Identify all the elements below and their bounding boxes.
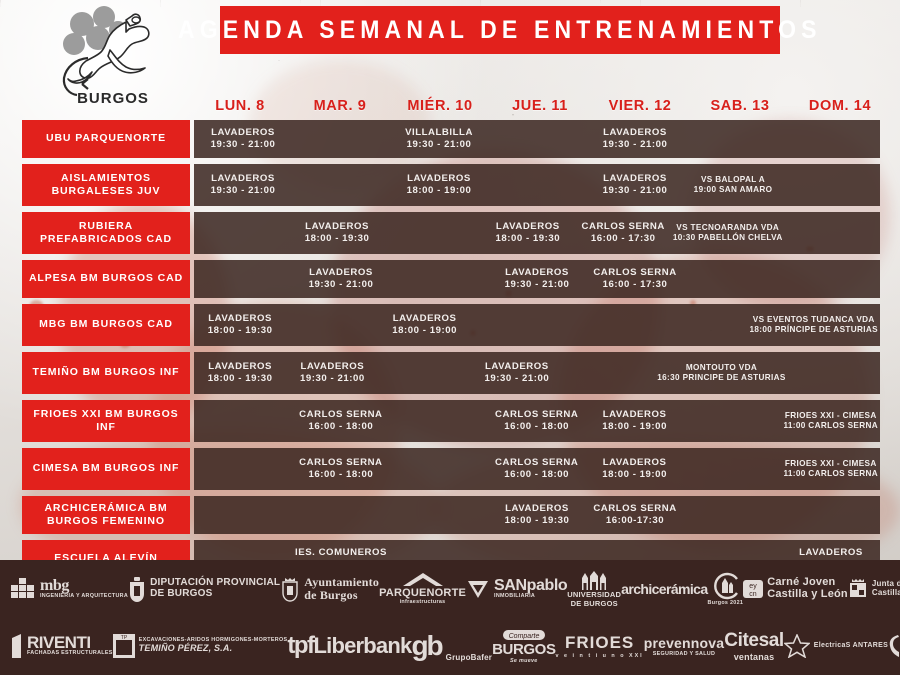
schedule-cell: CARLOS SERNA16:00-17:30	[586, 496, 684, 534]
sponsor-electricas-antares: ElectricaS ANTARES	[784, 634, 888, 658]
rubiera-bracket-icon	[888, 634, 900, 658]
gb-monogram-icon: gb	[411, 630, 441, 662]
session-place: LAVADEROS	[300, 361, 364, 373]
sponsor-sub: SEGURIDAD Y SALUD	[653, 651, 715, 657]
sponsor-row-2: RIVENTI FACHADAS ESTRUCTURALES TP EXCAVA…	[0, 617, 900, 674]
schedule-cell	[194, 496, 292, 534]
title-banner: AGENDA SEMANAL DE ENTRENAMIENTOS	[220, 6, 780, 54]
schedule-row-cells: LAVADEROS19:30 - 21:00LAVADEROS19:30 - 2…	[194, 260, 880, 298]
schedule-row: AISLAMIENTOS BURGALESES JUVLAVADEROS19:3…	[22, 164, 880, 206]
session-place: LAVADEROS	[505, 267, 569, 279]
schedule-cell: LAVADEROS19:30 - 21:00	[471, 352, 563, 394]
sponsor-row-1: mbg INGENIERIA Y ARQUITECTURA DIPUTACIÓN…	[0, 560, 900, 617]
schedule-cell	[390, 448, 488, 490]
schedule-cell: LAVADEROS19:30 - 21:00	[286, 352, 378, 394]
schedule-row: FRIOES XXI BM BURGOS INFCARLOS SERNA16:0…	[22, 400, 880, 442]
session-time: 18:00 - 19:30	[495, 233, 560, 245]
schedule-cell: LAVADEROS19:30 - 21:00	[292, 260, 390, 298]
session-place: LAVADEROS	[485, 361, 549, 373]
schedule-grid: UBU PARQUENORTELAVADEROS19:30 - 21:00VIL…	[22, 120, 880, 584]
session-place: FRIOES XXI - CIMESA	[785, 459, 877, 469]
schedule-row: RUBIERA PREFABRICADOS CADLAVADEROS18:00 …	[22, 212, 880, 254]
schedule-cell	[194, 400, 292, 442]
session-time: 16:00 - 17:30	[603, 279, 668, 291]
sponsor-sub: v e i n t i u n o XXI	[556, 653, 644, 659]
day-header-dom: DOM. 14	[790, 94, 890, 118]
sponsor-sub: Castilla y León	[767, 589, 848, 600]
schedule-cell: CARLOS SERNA16:00 - 17:30	[576, 212, 671, 254]
star-icon	[784, 634, 810, 658]
session-time: 18:00 - 19:30	[505, 515, 570, 527]
session-place: IES. COMUNEROS	[295, 547, 387, 559]
schedule-row: ARCHICERÁMICA BM BURGOS FEMENINOLAVADERO…	[22, 496, 880, 534]
schedule-cell	[788, 352, 880, 394]
schedule-row-cells: LAVADEROS18:00 - 19:30LAVADEROS18:00 - 1…	[194, 304, 880, 346]
sponsor-name: SANpablo	[494, 578, 567, 594]
schedule-row: CIMESA BM BURGOS INFCARLOS SERNA16:00 - …	[22, 448, 880, 490]
session-time: 11:00 CARLOS SERNA	[783, 469, 878, 479]
sponsor-name: DIPUTACIÓN PROVINCIAL	[150, 578, 280, 588]
sponsor-parquenorte: PARQUENORTE infraestructuras	[379, 573, 466, 605]
schedule-cell	[292, 120, 390, 158]
sponsor-frioes: FRIOES v e i n t i u n o XXI	[556, 633, 644, 659]
session-place: VS TECNOARANDA VDA	[676, 223, 779, 233]
schedule-cell: VS BALOPAL A19:00 SAN AMARO	[684, 164, 782, 206]
sponsor-sub: Castilla y León	[872, 589, 900, 597]
sponsor-mbg: mbg INGENIERIA Y ARQUITECTURA	[10, 578, 128, 600]
sponsor-name: Ayuntamiento	[304, 576, 379, 588]
schedule-cell: CARLOS SERNA16:00 - 17:30	[586, 260, 684, 298]
session-time: 18:00 - 19:00	[602, 469, 667, 481]
sponsor-junta-cyl: Junta de Castilla y León	[848, 578, 900, 600]
schedule-row: MBG BM BURGOS CADLAVADEROS18:00 - 19:30L…	[22, 304, 880, 346]
day-header-mar: MAR. 9	[290, 94, 390, 118]
session-place: LAVADEROS	[407, 173, 471, 185]
session-place: VS EVENTOS TUDANCA VDA	[753, 315, 875, 325]
schedule-row: TEMIÑO BM BURGOS INFLAVADEROS18:00 - 19:…	[22, 352, 880, 394]
session-time: 16:00 - 18:00	[504, 469, 569, 481]
sponsor-sanpablo: SANpablo INMOBILIARIA	[466, 577, 567, 601]
schedule-cell	[390, 260, 488, 298]
schedule-cell	[194, 260, 292, 298]
schedule-cell: CARLOS SERNA16:00 - 18:00	[292, 448, 390, 490]
sponsor-sub: ventanas	[734, 652, 775, 662]
day-header-jue: JUE. 11	[490, 94, 590, 118]
team-label[interactable]: UBU PARQUENORTE	[22, 120, 190, 158]
session-place: LAVADEROS	[603, 127, 667, 139]
schedule-cell	[194, 212, 289, 254]
schedule-cell: LAVADEROS19:30 - 21:00	[488, 260, 586, 298]
session-time: 19:30 - 21:00	[603, 185, 668, 197]
schedule-row-cells: CARLOS SERNA16:00 - 18:00CARLOS SERNA16:…	[194, 400, 880, 442]
svg-text:TP: TP	[120, 635, 127, 641]
schedule-row: UBU PARQUENORTELAVADEROS19:30 - 21:00VIL…	[22, 120, 880, 158]
svg-text:ey: ey	[750, 583, 758, 590]
session-place: LAVADEROS	[309, 267, 373, 279]
schedule-cell	[488, 164, 586, 206]
session-time: 16:00 - 18:00	[308, 421, 373, 433]
schedule-cell	[292, 496, 390, 534]
prevennova-icon: prevennova	[644, 635, 725, 651]
sponsor-ayuntamiento: Ayuntamiento de Burgos	[280, 576, 379, 602]
sponsor-ubu: UNIVERSIDAD DE BURGOS	[567, 570, 621, 608]
schedule-cell	[684, 120, 782, 158]
schedule-row-cells: CARLOS SERNA16:00 - 18:00CARLOS SERNA16:…	[194, 448, 880, 490]
schedule-cell	[782, 164, 880, 206]
svg-text:cn: cn	[750, 591, 758, 598]
session-place: CARLOS SERNA	[593, 503, 676, 515]
sponsor-prevennova: prevennova SEGURIDAD Y SALUD	[644, 635, 725, 657]
session-time: 18:00 - 19:30	[208, 325, 273, 337]
sponsor-name: PARQUENORTE	[379, 587, 466, 599]
archiceramica-wordmark-icon: archicerámica	[621, 581, 707, 597]
session-time: 19:30 - 21:00	[603, 139, 668, 151]
logo-wordmark: BURGOS	[48, 90, 178, 107]
sponsor-comparte-burgos: Comparte BURGOS Se mueve	[492, 628, 555, 664]
schedule-cell: CARLOS SERNA16:00 - 18:00	[488, 448, 586, 490]
session-time: 18:00 - 19:30	[208, 373, 273, 385]
sponsor-rubiera: RUBIERA	[888, 634, 900, 658]
sponsor-name: mbg	[40, 578, 128, 594]
club-logo: BURGOS	[48, 6, 178, 110]
team-label[interactable]: RUBIERA PREFABRICADOS CAD	[22, 212, 190, 254]
session-place: LAVADEROS	[603, 457, 667, 469]
tower-icon	[10, 634, 23, 658]
team-label[interactable]: CIMESA BM BURGOS INF	[22, 448, 190, 490]
sponsor-liberbank: Liberbank	[314, 633, 412, 659]
schedule-cell: LAVADEROS18:00 - 19:00	[390, 164, 488, 206]
schedule-cell: LAVADEROS19:30 - 21:00	[194, 120, 292, 158]
session-time: 19:30 - 21:00	[309, 279, 374, 291]
day-header-vier: VIER. 12	[590, 94, 690, 118]
sponsor-name: BURGOS	[492, 641, 555, 658]
page-title: AGENDA SEMANAL DE ENTRENAMIENTOS	[178, 16, 822, 45]
sponsor-sub: infraestructuras	[400, 599, 446, 605]
schedule-cell: LAVADEROS18:00 - 19:30	[289, 212, 384, 254]
session-time: 19:30 - 21:00	[407, 139, 472, 151]
poster: BURGOS AGENDA SEMANAL DE ENTRENAMIENTOS …	[0, 0, 900, 675]
session-time: 18:00 - 19:00	[407, 185, 472, 197]
session-time: 18:00 - 19:00	[602, 421, 667, 433]
schedule-cell	[684, 496, 782, 534]
schedule-cell: CARLOS SERNA16:00 - 18:00	[488, 400, 586, 442]
session-place: CARLOS SERNA	[495, 457, 578, 469]
schedule-cell: LAVADEROS19:30 - 21:00	[586, 164, 684, 206]
session-place: LAVADEROS	[208, 361, 272, 373]
session-time: 16:30 PRINCIPE DE ASTURIAS	[657, 373, 785, 383]
schedule-cell: LAVADEROS18:00 - 19:00	[379, 304, 471, 346]
session-place: LAVADEROS	[799, 547, 863, 559]
schedule-cell: CARLOS SERNA16:00 - 18:00	[292, 400, 390, 442]
tp-box-icon: TP	[113, 634, 135, 658]
schedule-cell: LAVADEROS18:00 - 19:00	[586, 448, 684, 490]
triangle-down-icon	[466, 577, 490, 601]
sponsor-sub: de Burgos	[304, 589, 379, 601]
session-time: 18:00 - 19:30	[305, 233, 370, 245]
session-place: LAVADEROS	[305, 221, 369, 233]
schedule-cell: FRIOES XXI - CIMESA11:00 CARLOS SERNA	[781, 400, 880, 442]
schedule-cell	[782, 260, 880, 298]
session-place: LAVADEROS	[603, 173, 667, 185]
session-place: CARLOS SERNA	[582, 221, 665, 233]
liberbank-wordmark-icon: Liberbank	[314, 633, 412, 659]
schedule-cell	[471, 304, 563, 346]
session-place: MONTOUTO VDA	[686, 363, 757, 373]
schedule-cell	[655, 304, 747, 346]
session-place: LAVADEROS	[211, 173, 275, 185]
sponsor-name: Carné Joven	[767, 577, 848, 588]
session-time: 19:30 - 21:00	[211, 185, 276, 197]
schedule-row-cells: LAVADEROS18:00 - 19:30LAVADEROS18:00 - 1…	[194, 212, 880, 254]
session-time: 19:00 SAN AMARO	[694, 185, 773, 195]
schedule-row-cells: LAVADEROS18:00 - 19:30CARLOS SERNA16:00-…	[194, 496, 880, 534]
schedule-cell	[684, 448, 782, 490]
crest-icon	[128, 576, 146, 602]
session-time: 16:00 - 18:00	[308, 469, 373, 481]
schedule-cell	[390, 400, 488, 442]
frioes-wordmark-icon: FRIOES	[565, 633, 634, 653]
cathedral-icon	[577, 570, 611, 590]
session-time: 19:30 - 21:00	[300, 373, 365, 385]
sponsor-sub: Se mueve	[510, 658, 538, 664]
schedule-cell: LAVADEROS18:00 - 19:30	[194, 304, 286, 346]
day-header-lun: LUN. 8	[190, 94, 290, 118]
schedule-row-cells: LAVADEROS19:30 - 21:00VILLALBILLA19:30 -…	[194, 120, 880, 158]
sponsor-citesal: Citesal ventanas	[724, 630, 784, 662]
sponsors-footer: mbg INGENIERIA Y ARQUITECTURA DIPUTACIÓN…	[0, 560, 900, 675]
sponsor-temino-perez: TP EXCAVACIONES-ARIDOS HORMIGONES-MORTER…	[113, 634, 288, 658]
session-place: VILLALBILLA	[405, 127, 473, 139]
team-label[interactable]: TEMIÑO BM BURGOS INF	[22, 352, 190, 394]
sponsor-sub: INGENIERIA Y ARQUITECTURA	[40, 594, 128, 600]
schedule-row-cells: LAVADEROS19:30 - 21:00LAVADEROS18:00 - 1…	[194, 164, 880, 206]
tpf-wordmark-icon: tpf	[287, 632, 313, 660]
schedule-cell	[563, 352, 655, 394]
schedule-cell	[488, 120, 586, 158]
team-label[interactable]: AISLAMIENTOS BURGALESES JUV	[22, 164, 190, 206]
session-time: 16:00-17:30	[606, 515, 664, 527]
sponsor-sub: DE BURGOS	[571, 599, 618, 608]
schedule-cell: MONTOUTO VDA16:30 PRINCIPE DE ASTURIAS	[655, 352, 787, 394]
eyca-icon: ey cn	[743, 580, 763, 598]
schedule-cell: VS EVENTOS TUDANCA VDA18:00 PRÍNCIPE DE …	[748, 304, 880, 346]
schedule-cell: LAVADEROS18:00 - 19:00	[586, 400, 684, 442]
sponsor-burgos2021: Burgos 2021	[708, 572, 744, 606]
day-header-mier: MIÉR. 10	[390, 94, 490, 118]
team-label[interactable]: ARCHICERÁMICA BM BURGOS FEMENINO	[22, 496, 190, 534]
sponsor-archiceramica: archicerámica	[621, 581, 707, 597]
citesal-icon: Citesal	[724, 630, 784, 652]
session-time: 19:30 - 21:00	[485, 373, 550, 385]
session-place: FRIOES XXI - CIMESA	[785, 411, 877, 421]
schedule-cell	[684, 260, 782, 298]
comparte-burgos-icon: Comparte	[503, 628, 545, 641]
day-header-sab: SAB. 13	[690, 94, 790, 118]
shield-crest-icon	[280, 576, 300, 602]
sponsor-sub: GrupoBafer	[446, 653, 492, 662]
session-place: LAVADEROS	[208, 313, 272, 325]
team-label[interactable]: MBG BM BURGOS CAD	[22, 304, 190, 346]
sponsor-sub: Burgos 2021	[708, 600, 744, 606]
schedule-cell	[684, 400, 782, 442]
sponsor-name: ElectricaS ANTARES	[814, 642, 888, 650]
sponsor-diputacion: DIPUTACIÓN PROVINCIAL DE BURGOS	[128, 576, 280, 602]
session-place: CARLOS SERNA	[299, 409, 382, 421]
sponsor-name: RIVENTI	[27, 634, 113, 651]
sponsor-tpf: tpf	[287, 632, 313, 660]
schedule-cell	[390, 496, 488, 534]
session-time: 10:30 PABELLÓN CHELVA	[673, 233, 783, 243]
junta-crest-icon	[848, 578, 868, 600]
schedule-cell: LAVADEROS18:00 - 19:30	[194, 352, 286, 394]
team-label[interactable]: ALPESA BM BURGOS CAD	[22, 260, 190, 298]
session-place: CARLOS SERNA	[495, 409, 578, 421]
sponsor-sub: INMOBILIARIA	[494, 594, 567, 600]
session-place: LAVADEROS	[496, 221, 560, 233]
session-place: CARLOS SERNA	[593, 267, 676, 279]
sponsor-sub: FACHADAS ESTRUCTURALES	[27, 651, 113, 657]
session-time: 16:00 - 18:00	[504, 421, 569, 433]
session-place: CARLOS SERNA	[299, 457, 382, 469]
sponsor-grupobafer: gb GrupoBafer	[411, 630, 492, 662]
schedule-cell: LAVADEROS19:30 - 21:00	[586, 120, 684, 158]
session-place: LAVADEROS	[393, 313, 457, 325]
schedule-cell: FRIOES XXI - CIMESA11:00 CARLOS SERNA	[781, 448, 880, 490]
session-time: 11:00 CARLOS SERNA	[783, 421, 878, 431]
team-label[interactable]: FRIOES XXI BM BURGOS INF	[22, 400, 190, 442]
schedule-cell	[286, 304, 378, 346]
day-header-row: LUN. 8 MAR. 9 MIÉR. 10 JUE. 11 VIER. 12 …	[190, 94, 890, 118]
session-time: 18:00 - 19:00	[392, 325, 457, 337]
sponsor-riventi: RIVENTI FACHADAS ESTRUCTURALES	[10, 634, 113, 658]
schedule-cell	[782, 120, 880, 158]
sponsor-carne-joven: ey cn Carné Joven Castilla y León	[743, 577, 848, 599]
sponsor-name: UNIVERSIDAD	[567, 590, 621, 599]
svg-text:Comparte: Comparte	[508, 633, 539, 640]
c-cathedral-icon	[710, 572, 740, 600]
schedule-row-cells: LAVADEROS18:00 - 19:30LAVADEROS19:30 - 2…	[194, 352, 880, 394]
schedule-cell: LAVADEROS18:00 - 19:30	[488, 496, 586, 534]
schedule-cell: VILLALBILLA19:30 - 21:00	[390, 120, 488, 158]
session-place: LAVADEROS	[505, 503, 569, 515]
sponsor-name: TEMIÑO PÉREZ, S.A.	[139, 644, 288, 653]
session-place: LAVADEROS	[211, 127, 275, 139]
schedule-cell	[385, 212, 480, 254]
session-time: 16:00 - 17:30	[591, 233, 656, 245]
schedule-cell: VS TECNOARANDA VDA10:30 PABELLÓN CHELVA	[671, 212, 785, 254]
schedule-cell	[782, 496, 880, 534]
schedule-cell	[785, 212, 880, 254]
chevron-up-icon	[403, 573, 443, 587]
mbg-blocks-icon	[10, 578, 36, 600]
schedule-cell	[563, 304, 655, 346]
sponsor-sub: DE BURGOS	[150, 589, 280, 599]
session-place: VS BALOPAL A	[701, 175, 765, 185]
session-time: 19:30 - 21:00	[505, 279, 570, 291]
schedule-cell: LAVADEROS18:00 - 19:30	[480, 212, 575, 254]
schedule-cell	[194, 448, 292, 490]
schedule-cell: LAVADEROS19:30 - 21:00	[194, 164, 292, 206]
session-place: LAVADEROS	[603, 409, 667, 421]
session-time: 19:30 - 21:00	[211, 139, 276, 151]
session-time: 18:00 PRÍNCIPE DE ASTURIAS	[750, 325, 878, 335]
schedule-cell	[292, 164, 390, 206]
schedule-cell	[379, 352, 471, 394]
schedule-row: ALPESA BM BURGOS CADLAVADEROS19:30 - 21:…	[22, 260, 880, 298]
